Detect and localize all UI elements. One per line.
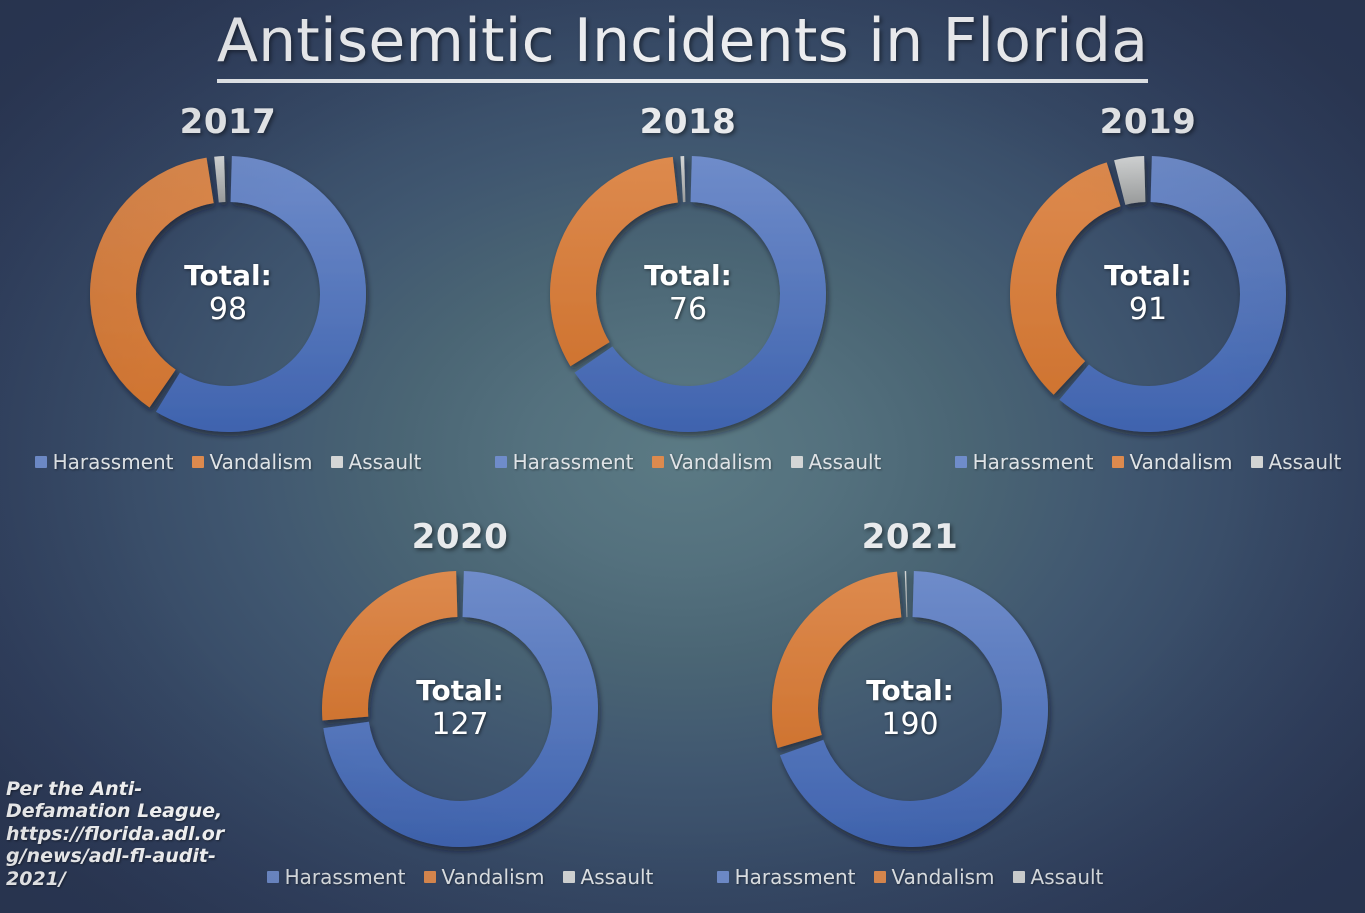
chart-year-label: 2018 (478, 100, 898, 144)
legend-label-assault: Assault (349, 450, 422, 474)
chart-year-label: 2021 (700, 515, 1120, 559)
legend-label-vandalism: Vandalism (670, 450, 773, 474)
legend-swatch-vandalism (874, 871, 886, 883)
legend-label-vandalism: Vandalism (892, 865, 995, 889)
legend-item-assault[interactable]: Assault (1013, 865, 1104, 889)
legend-item-assault[interactable]: Assault (331, 450, 422, 474)
legend-item-harassment[interactable]: Harassment (35, 450, 174, 474)
legend-item-assault[interactable]: Assault (791, 450, 882, 474)
legend-swatch-assault (1013, 871, 1025, 883)
chart-year-label: 2019 (938, 100, 1358, 144)
legend-label-harassment: Harassment (285, 865, 406, 889)
slide-background: Antisemitic Incidents in Florida 2017 To… (0, 0, 1365, 913)
donut-2019: Total: 91 (998, 144, 1298, 444)
donut-chart-2019: 2019 Total: 91 Harassment Vandalism Assa… (938, 100, 1358, 474)
legend-swatch-harassment (267, 871, 279, 883)
donut-2021: Total: 190 (760, 559, 1060, 859)
donut-chart-2017: 2017 Total: 98 Harassment Vandalism Assa… (18, 100, 438, 474)
donut-slice-assault[interactable] (214, 156, 225, 202)
legend-label-harassment: Harassment (513, 450, 634, 474)
legend-item-assault[interactable]: Assault (563, 865, 654, 889)
legend-item-vandalism[interactable]: Vandalism (1112, 450, 1233, 474)
donut-slice-assault[interactable] (1114, 156, 1145, 205)
donut-slice-assault[interactable] (680, 156, 685, 202)
donut-chart-2020: 2020 Total: 127 Harassment Vandalism Ass… (250, 515, 670, 889)
legend-swatch-vandalism (652, 456, 664, 468)
donut-slice-vandalism[interactable] (322, 571, 457, 720)
legend-item-harassment[interactable]: Harassment (955, 450, 1094, 474)
legend-item-harassment[interactable]: Harassment (267, 865, 406, 889)
legend-label-assault: Assault (1269, 450, 1342, 474)
donut-slice-vandalism[interactable] (772, 572, 901, 748)
chart-legend: Harassment Vandalism Assault (938, 450, 1358, 474)
page-title-text: Antisemitic Incidents in Florida (217, 8, 1148, 83)
legend-swatch-harassment (955, 456, 967, 468)
legend-swatch-harassment (717, 871, 729, 883)
legend-item-vandalism[interactable]: Vandalism (652, 450, 773, 474)
donut-svg (998, 144, 1298, 444)
chart-year-label: 2020 (250, 515, 670, 559)
source-note: Per the Anti-Defamation League, https://… (6, 778, 230, 890)
legend-swatch-vandalism (424, 871, 436, 883)
legend-item-vandalism[interactable]: Vandalism (424, 865, 545, 889)
legend-item-harassment[interactable]: Harassment (495, 450, 634, 474)
legend-swatch-assault (563, 871, 575, 883)
legend-item-harassment[interactable]: Harassment (717, 865, 856, 889)
legend-label-assault: Assault (581, 865, 654, 889)
donut-slice-assault[interactable] (905, 571, 908, 617)
legend-label-assault: Assault (809, 450, 882, 474)
donut-svg (78, 144, 378, 444)
donut-2018: Total: 76 (538, 144, 838, 444)
chart-legend: Harassment Vandalism Assault (250, 865, 670, 889)
legend-swatch-vandalism (1112, 456, 1124, 468)
page-title: Antisemitic Incidents in Florida (0, 6, 1365, 83)
chart-year-label: 2017 (18, 100, 438, 144)
legend-swatch-harassment (35, 456, 47, 468)
legend-item-assault[interactable]: Assault (1251, 450, 1342, 474)
donut-2020: Total: 127 (310, 559, 610, 859)
donut-slice-vandalism[interactable] (550, 157, 678, 366)
chart-legend: Harassment Vandalism Assault (18, 450, 438, 474)
legend-label-harassment: Harassment (735, 865, 856, 889)
legend-swatch-assault (331, 456, 343, 468)
donut-2017: Total: 98 (78, 144, 378, 444)
donut-chart-2021: 2021 Total: 190 Harassment Vandalism Ass… (700, 515, 1120, 889)
legend-label-harassment: Harassment (53, 450, 174, 474)
donut-slice-vandalism[interactable] (1010, 162, 1120, 394)
chart-legend: Harassment Vandalism Assault (700, 865, 1120, 889)
legend-swatch-vandalism (192, 456, 204, 468)
chart-legend: Harassment Vandalism Assault (478, 450, 898, 474)
legend-swatch-harassment (495, 456, 507, 468)
donut-chart-2018: 2018 Total: 76 Harassment Vandalism Assa… (478, 100, 898, 474)
legend-swatch-assault (1251, 456, 1263, 468)
legend-label-assault: Assault (1031, 865, 1104, 889)
legend-item-vandalism[interactable]: Vandalism (874, 865, 995, 889)
legend-label-vandalism: Vandalism (442, 865, 545, 889)
donut-svg (310, 559, 610, 859)
donut-svg (760, 559, 1060, 859)
legend-label-vandalism: Vandalism (210, 450, 313, 474)
legend-label-vandalism: Vandalism (1130, 450, 1233, 474)
legend-item-vandalism[interactable]: Vandalism (192, 450, 313, 474)
donut-svg (538, 144, 838, 444)
legend-label-harassment: Harassment (973, 450, 1094, 474)
donut-slice-vandalism[interactable] (90, 158, 214, 408)
legend-swatch-assault (791, 456, 803, 468)
